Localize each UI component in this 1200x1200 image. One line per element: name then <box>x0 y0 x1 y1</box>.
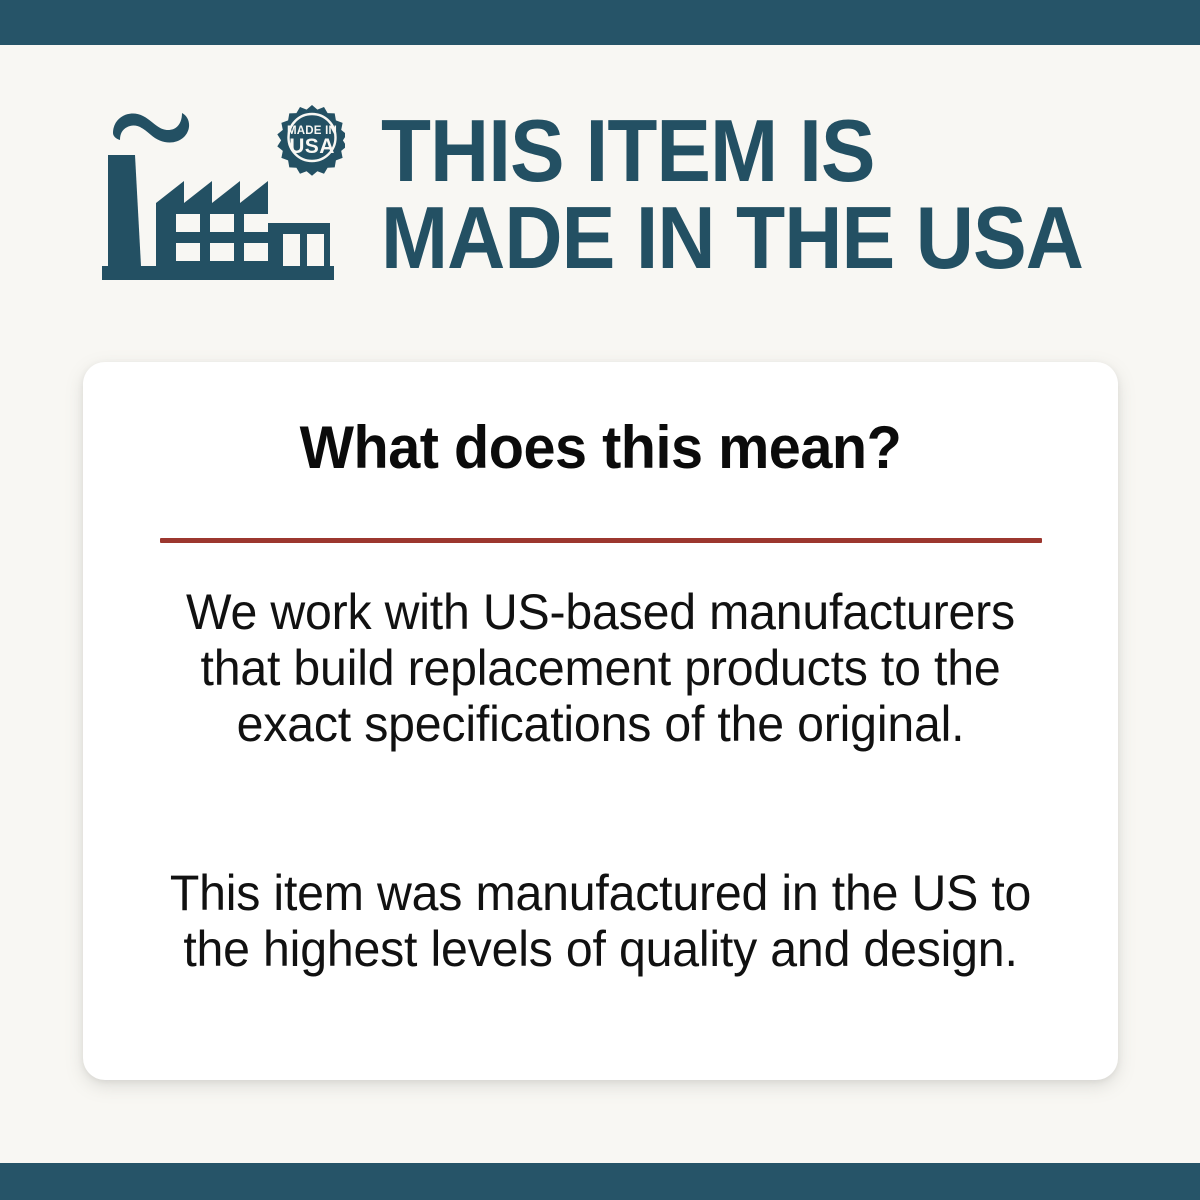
card-body: We work with US-based manufacturers that… <box>138 584 1063 977</box>
page-title-line-2: MADE IN THE USA <box>381 194 1104 281</box>
page-title: THIS ITEM IS MADE IN THE USA <box>381 107 1171 281</box>
page-title-line-1: THIS ITEM IS <box>381 107 1116 194</box>
info-card-content: What does this mean? We work with US-bas… <box>83 362 1118 1080</box>
factory-icon: MADE IN USA <box>100 103 345 288</box>
card-divider <box>160 538 1042 543</box>
top-accent-bar <box>0 0 1200 45</box>
header: MADE IN USA THIS ITEM IS MADE IN THE USA <box>0 45 1200 345</box>
bottom-accent-bar <box>0 1163 1200 1200</box>
card-paragraph-1: We work with US-based manufacturers that… <box>154 584 1047 752</box>
card-paragraph-2: This item was manufactured in the US to … <box>154 865 1047 977</box>
card-heading: What does this mean? <box>104 417 1098 479</box>
page-root: MADE IN USA THIS ITEM IS MADE IN THE USA… <box>0 0 1200 1200</box>
badge-line2: USA <box>289 135 335 158</box>
